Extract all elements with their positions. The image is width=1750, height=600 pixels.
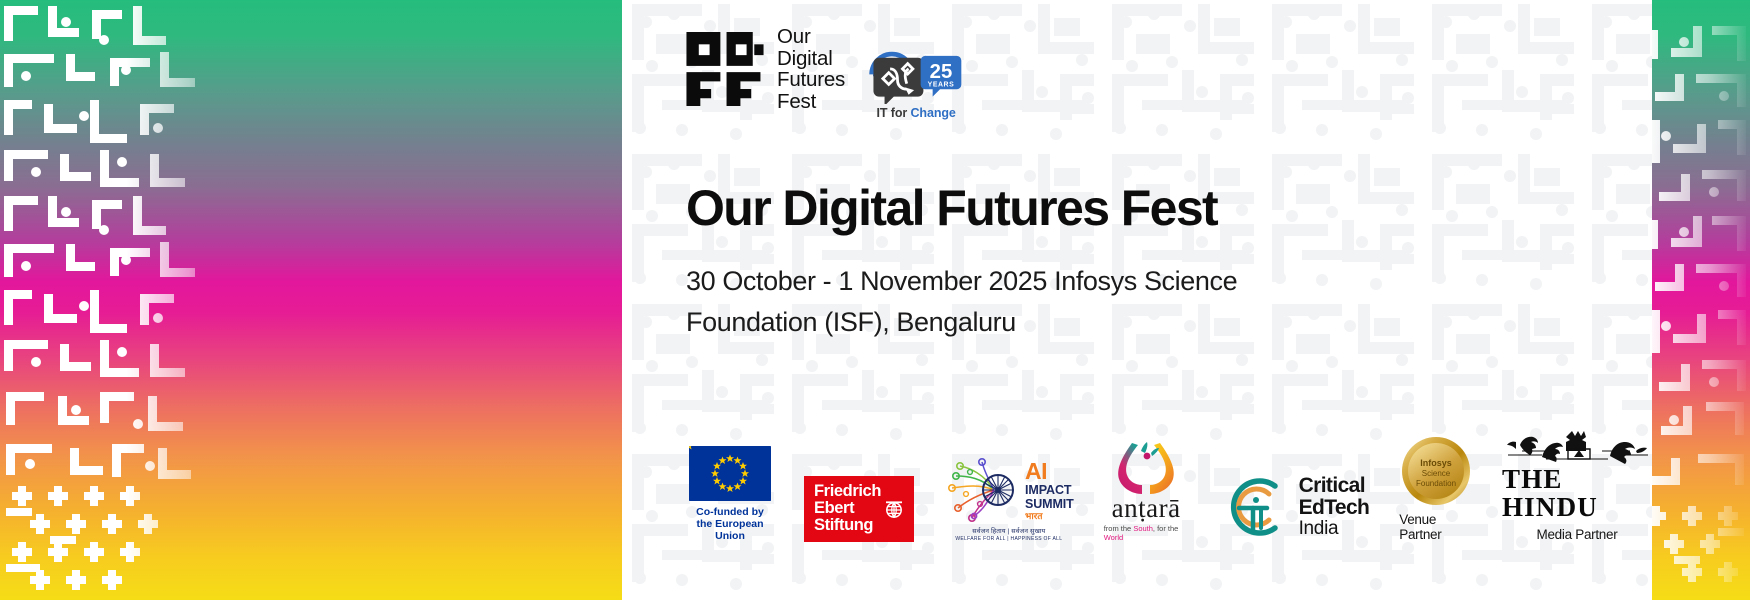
isf-seal-line-3: Foundation: [1416, 479, 1456, 488]
banner-content-area: Our Digital Futures Fest: [622, 0, 1652, 600]
fes-line-3: Stiftung: [814, 517, 881, 534]
the-hindu-caption: Media Partner: [1537, 527, 1618, 542]
odff-wordmark: Our Digital Futures Fest: [777, 26, 845, 112]
ai-summit-tagline-hindi: सर्वजन हिताय | सर्वजन सुखाय: [972, 526, 1045, 535]
isf-caption: Venue Partner: [1399, 512, 1472, 542]
antara-tagline: from the South, for the World: [1104, 524, 1189, 542]
antara-flame-icon: [1110, 441, 1182, 497]
ai-summit-tagline-english: WELFARE FOR ALL | HAPPINESS OF ALL: [955, 536, 1062, 542]
ai-summit-line-2: IMPACT: [1025, 483, 1074, 497]
partner-logo-strip: Co-funded by the European Union Friedric…: [686, 425, 1652, 542]
odff-word-line-3: Futures: [777, 69, 845, 91]
odff-square-mark-icon: [686, 32, 764, 106]
odff-word-line-4: Fest: [777, 91, 845, 113]
eu-caption-line-1: Co-funded by: [686, 506, 774, 518]
odff-logo-lockup[interactable]: Our Digital Futures Fest: [686, 26, 845, 112]
isf-seal-line-1: Infosys: [1420, 458, 1452, 468]
left-decor-panel: [0, 0, 622, 600]
it-for-change-wordmark: IT for Change: [876, 106, 955, 120]
odff-word-line-1: Our: [777, 26, 845, 48]
antara-tagline-pre: from the: [1104, 524, 1134, 533]
kolam-gradient-panel-icon: [0, 0, 230, 600]
partner-logo-the-hindu[interactable]: THE HINDU Media Partner: [1502, 425, 1652, 542]
isf-seal-line-2: Science: [1421, 469, 1450, 478]
the-hindu-wordmark: THE HINDU: [1502, 465, 1652, 521]
cet-line-1: Critical: [1299, 475, 1370, 497]
ai-summit-line-1: AI: [1025, 460, 1074, 483]
event-date-venue: 30 October - 1 November 2025 Infosys Sci…: [686, 261, 1246, 343]
partner-logo-antara[interactable]: anṭarā from the South, for the World: [1104, 441, 1189, 542]
antara-tagline-mid: , for the: [1153, 524, 1178, 533]
kolam-gradient-panel-icon: [1652, 0, 1750, 600]
ai-summit-line-3: SUMMIT: [1025, 497, 1074, 511]
partner-logo-infosys-science-foundation[interactable]: Infosys Science Foundation Venue Partner: [1399, 436, 1472, 542]
cet-line-2: EdTech: [1299, 497, 1370, 519]
partner-logo-european-union[interactable]: Co-funded by the European Union: [686, 446, 774, 542]
ai-summit-hindi: भारत: [1025, 512, 1074, 521]
eu-caption: Co-funded by the European Union: [686, 506, 774, 542]
itfc-text-dark: IT for: [876, 106, 910, 120]
page-title: Our Digital Futures Fest: [686, 182, 1652, 235]
brand-logo-row: Our Digital Futures Fest: [686, 26, 1652, 130]
eu-flag-icon: [689, 446, 771, 501]
itfc-badge-label: YEARS: [928, 81, 955, 88]
ai-chakra-network-icon: [944, 458, 1018, 522]
fes-globe-icon: [884, 499, 904, 519]
isf-gold-seal-icon: Infosys Science Foundation: [1401, 436, 1471, 506]
partner-logo-critical-edtech-india[interactable]: Critical EdTech India: [1219, 472, 1370, 542]
fes-line-2: Ebert: [814, 500, 881, 517]
odff-word-line-2: Digital: [777, 48, 845, 70]
it-for-change-spiral-icon: 25 YEARS: [867, 30, 965, 104]
right-decor-panel: [1652, 0, 1750, 600]
cet-line-3: India: [1299, 519, 1370, 539]
eu-caption-line-2: the European Union: [686, 518, 774, 542]
partner-logo-ai-impact-summit[interactable]: AI IMPACT SUMMIT भारत सर्वजन हिताय | सर्…: [944, 458, 1074, 542]
event-banner: Our Digital Futures Fest: [0, 0, 1750, 600]
cet-monogram-icon: [1219, 472, 1289, 542]
antara-tagline-south: South: [1133, 524, 1153, 533]
itfc-text-accent: Change: [911, 106, 956, 120]
antara-wordmark: anṭarā: [1112, 495, 1181, 522]
the-hindu-crest-icon: [1502, 425, 1652, 465]
fes-line-1: Friedrich: [814, 483, 881, 500]
it-for-change-logo[interactable]: 25 YEARS IT for Change: [867, 26, 965, 120]
partner-logo-friedrich-ebert-stiftung[interactable]: Friedrich Ebert Stiftung: [804, 476, 914, 542]
antara-tagline-world: World: [1104, 533, 1123, 542]
itfc-badge-number: 25: [930, 61, 953, 83]
